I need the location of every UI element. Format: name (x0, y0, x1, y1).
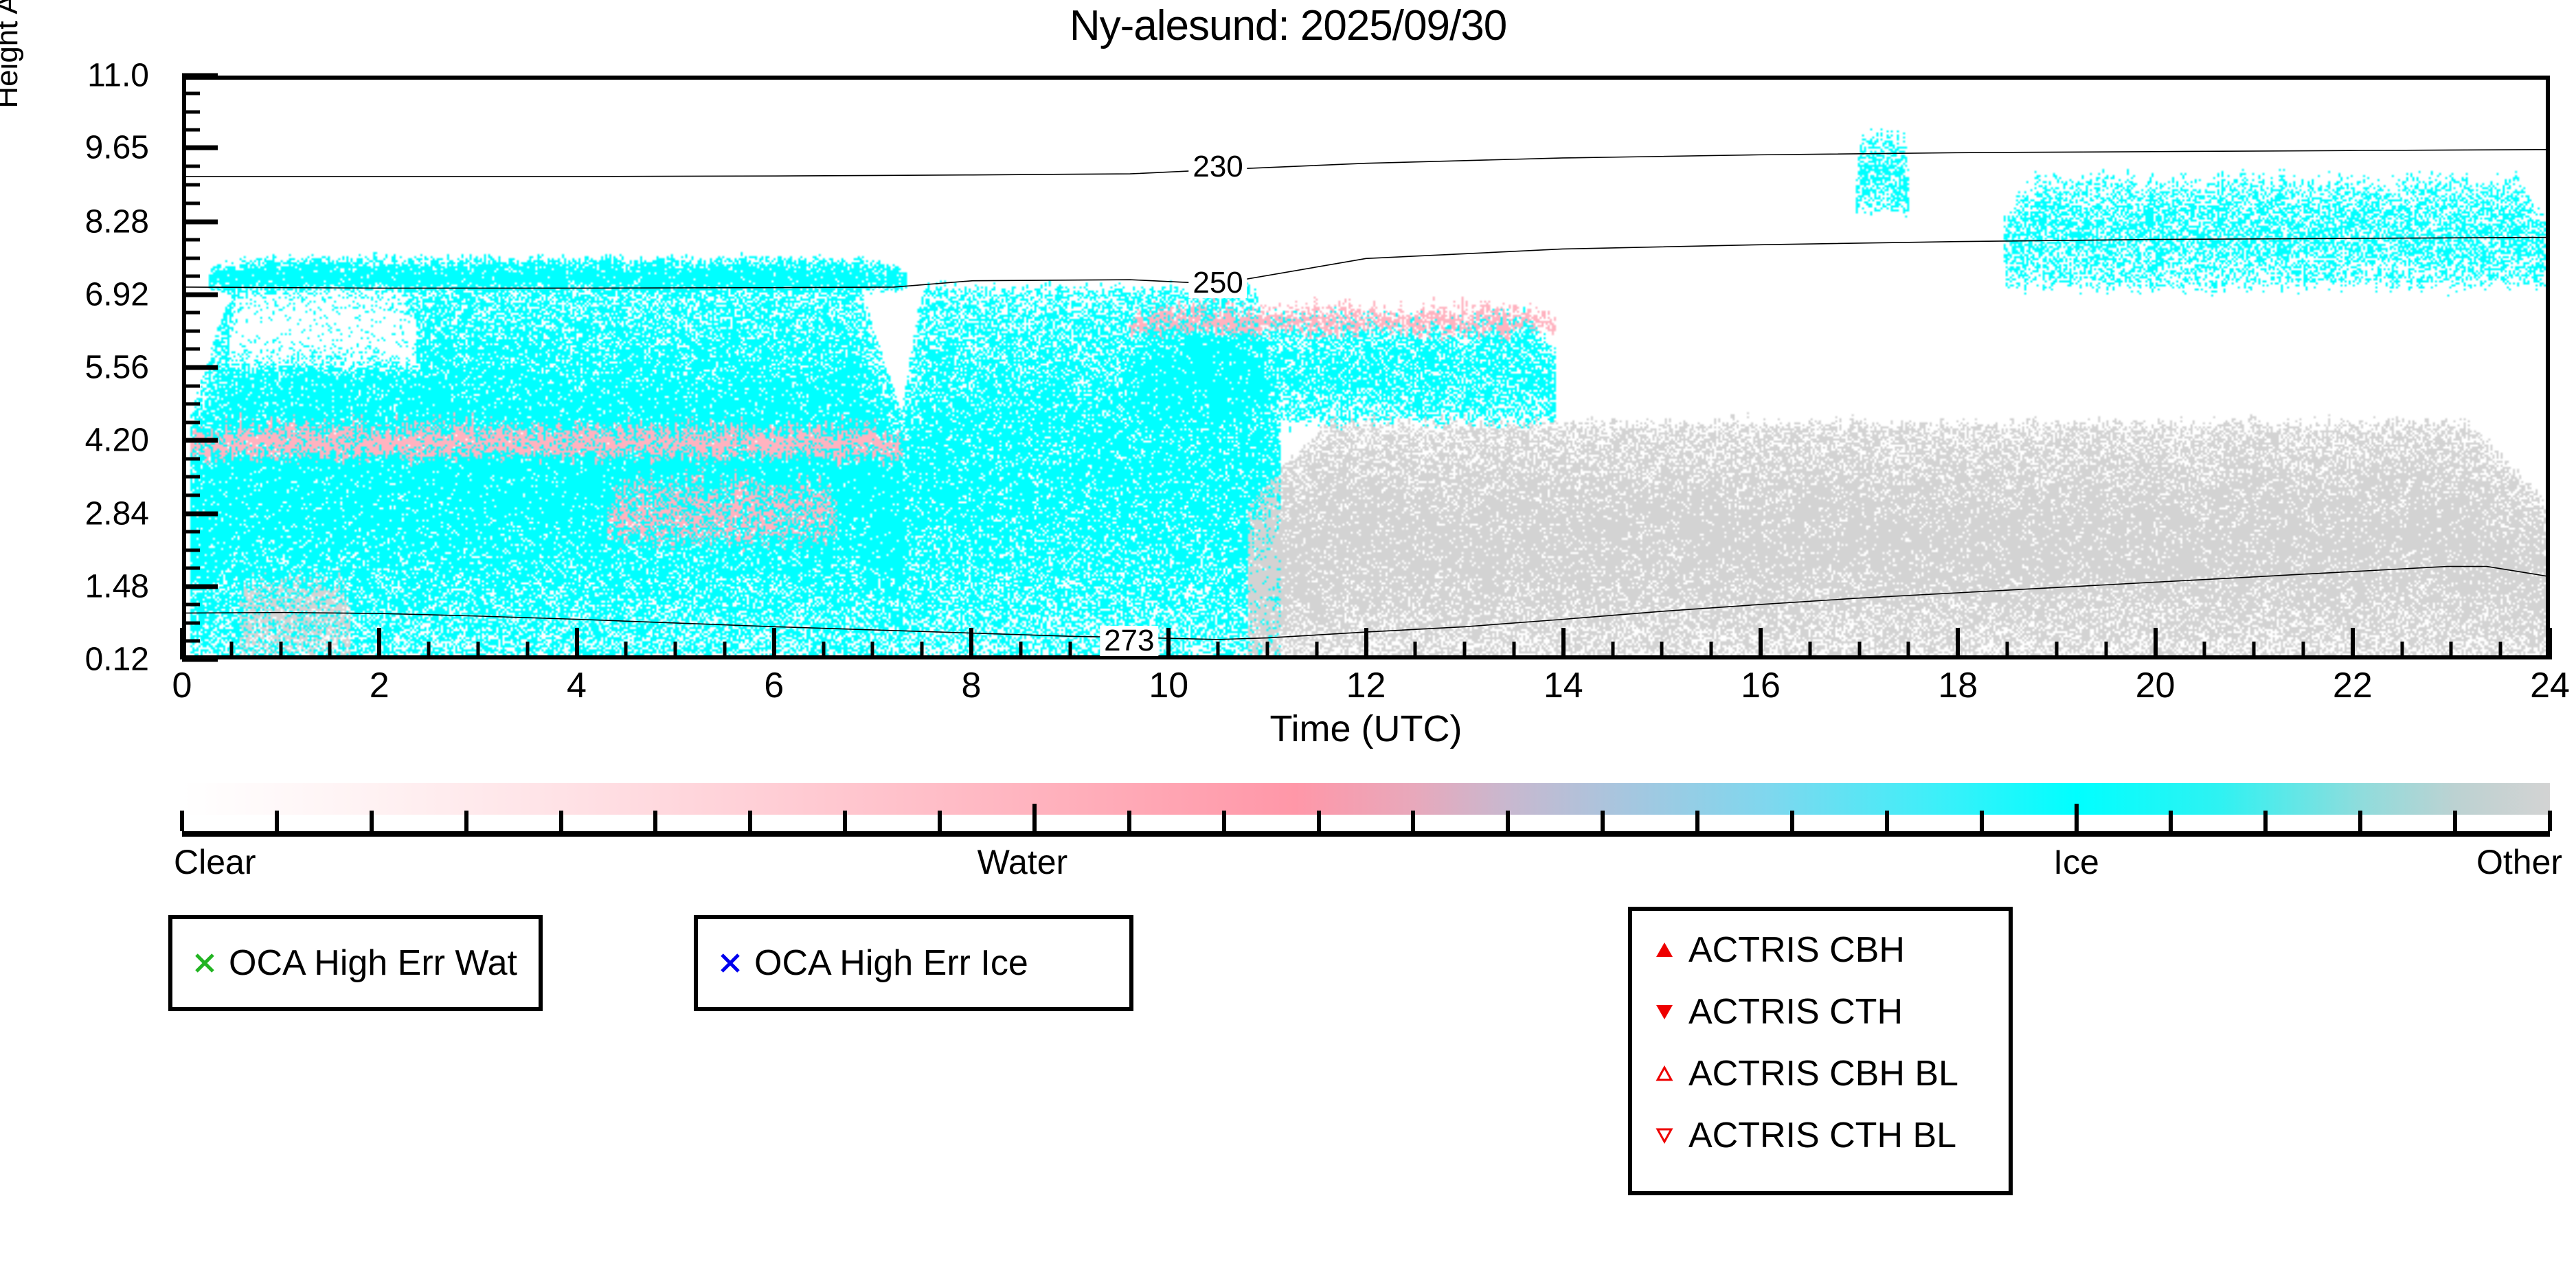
y-tick-minor (182, 311, 200, 315)
y-tick-minor (182, 640, 200, 643)
x-tick-label: 10 (1107, 665, 1230, 706)
x-tick-label: 18 (1896, 665, 2020, 706)
x-cross-icon (716, 949, 745, 977)
colorbar-tick (2263, 811, 2268, 831)
x-tick-major (1561, 628, 1566, 659)
x-tick-minor (1907, 642, 1910, 659)
x-tick-major (180, 628, 184, 659)
legend-oca-high-err-water[interactable]: OCA High Err Wat (168, 915, 543, 1011)
y-tick-major (182, 74, 218, 78)
colorbar-tick (748, 811, 752, 831)
y-tick-major (182, 438, 218, 443)
triangle-up-filled-icon (1650, 938, 1679, 962)
x-tick-label: 0 (120, 665, 244, 706)
x-tick-minor (2301, 642, 2305, 659)
x-tick-minor (1265, 642, 1269, 659)
y-tick-minor (182, 238, 200, 242)
y-tick-minor (182, 457, 200, 460)
y-tick-minor (182, 530, 200, 534)
y-tick-minor (182, 493, 200, 497)
colorbar-tick (2453, 811, 2457, 831)
y-tick-major (182, 146, 218, 150)
y-tick-minor (182, 348, 200, 351)
colorbar-tick (1506, 811, 1510, 831)
y-tick-label: 1.48 (0, 567, 149, 605)
legend-item[interactable]: OCA High Err Wat (172, 931, 539, 995)
triangle-up-open-icon (1650, 1061, 1679, 1086)
x-tick-label: 4 (515, 665, 639, 706)
colorbar-tick (1885, 811, 1889, 831)
x-tick-minor (871, 642, 874, 659)
x-tick-minor (674, 642, 677, 659)
y-tick-minor (182, 256, 200, 260)
x-tick-major (1956, 628, 1960, 659)
y-tick-minor (182, 475, 200, 479)
colorbar-tick (2548, 811, 2552, 831)
x-tick-minor (526, 642, 529, 659)
legend-item-label: OCA High Err Wat (229, 942, 517, 984)
x-tick-minor (1463, 642, 1467, 659)
x-tick-minor (2400, 642, 2404, 659)
x-tick-minor (2499, 642, 2502, 659)
colorbar-tick (938, 811, 942, 831)
y-tick-minor (182, 201, 200, 205)
x-tick-major (1364, 628, 1368, 659)
colorbar-tick (464, 811, 468, 831)
y-tick-minor (182, 548, 200, 552)
x-tick-minor (1611, 642, 1614, 659)
legend-item-actris-cbh-bl[interactable]: ACTRIS CBH BL (1632, 1043, 2009, 1105)
y-tick-minor (182, 403, 200, 406)
colorbar-tick (1790, 811, 1794, 831)
x-tick-minor (229, 642, 233, 659)
x-tick-minor (2055, 642, 2058, 659)
legend-item-actris-cth-bl[interactable]: ACTRIS CTH BL (1632, 1105, 2009, 1166)
x-tick-minor (2104, 642, 2108, 659)
legend-item[interactable]: OCA High Err Ice (698, 931, 1129, 995)
x-tick-label: 2 (317, 665, 441, 706)
x-tick-major (1759, 628, 1763, 659)
x-tick-label: 8 (909, 665, 1033, 706)
x-tick-major (377, 628, 381, 659)
x-tick-major (2548, 628, 2552, 659)
x-tick-minor (2006, 642, 2009, 659)
y-tick-major (182, 292, 218, 297)
x-tick-minor (1414, 642, 1417, 659)
y-tick-major (182, 511, 218, 516)
x-tick-label: 24 (2488, 665, 2576, 706)
contour-label: 250 (1188, 268, 1247, 298)
x-tick-minor (1512, 642, 1515, 659)
x-tick-label: 20 (2094, 665, 2217, 706)
colorbar-tick (559, 811, 563, 831)
legend-item-label: OCA High Err Ice (754, 942, 1028, 984)
x-tick-minor (624, 642, 628, 659)
legend-item-label: ACTRIS CTH (1688, 991, 1903, 1032)
colorbar-tick (1601, 811, 1605, 831)
x-tick-major (575, 628, 579, 659)
x-tick-minor (1217, 642, 1220, 659)
x-tick-minor (1019, 642, 1022, 659)
colorbar-tick (1032, 804, 1037, 831)
triangle-down-open-icon (1650, 1123, 1679, 1148)
y-tick-label: 2.84 (0, 495, 149, 532)
colorbar-tick (1695, 811, 1699, 831)
y-tick-minor (182, 603, 200, 607)
y-tick-major (182, 584, 218, 589)
x-tick-minor (279, 642, 282, 659)
x-tick-minor (1068, 642, 1072, 659)
legend-actris[interactable]: ACTRIS CBH ACTRIS CTH ACTRIS CBH BL ACTR… (1628, 907, 2013, 1195)
colorbar-label: Other (2476, 842, 2562, 882)
y-tick-minor (182, 275, 200, 278)
y-tick-minor (182, 621, 200, 624)
y-tick-major (182, 365, 218, 370)
x-tick-minor (822, 642, 825, 659)
plot-axes-frame (182, 76, 2550, 659)
x-tick-label: 12 (1304, 665, 1428, 706)
x-tick-label: 16 (1699, 665, 1822, 706)
y-tick-minor (182, 567, 200, 570)
x-tick-minor (1808, 642, 1811, 659)
x-tick-minor (1660, 642, 1664, 659)
x-cross-icon (190, 949, 219, 977)
colorbar-label: Ice (2053, 842, 2099, 882)
y-tick-major (182, 657, 218, 662)
colorbar-tick (1222, 811, 1226, 831)
colorbar-tick (1317, 811, 1321, 831)
colorbar-gradient (182, 783, 2550, 815)
x-tick-minor (920, 642, 924, 659)
x-tick-minor (1710, 642, 1713, 659)
x-tick-major (2154, 628, 2158, 659)
colorbar-tick (370, 811, 374, 831)
y-tick-minor (182, 128, 200, 132)
contour-line (186, 238, 2546, 289)
legend-item-actris-cth[interactable]: ACTRIS CTH (1632, 981, 2009, 1043)
x-tick-minor (1315, 642, 1318, 659)
contour-label: 230 (1188, 152, 1247, 182)
x-tick-minor (1857, 642, 1861, 659)
colorbar-label: Clear (174, 842, 256, 882)
y-tick-minor (182, 329, 200, 332)
x-tick-minor (2450, 642, 2453, 659)
x-tick-minor (2203, 642, 2206, 659)
y-tick-minor (182, 165, 200, 168)
colorbar-tick (2358, 811, 2362, 831)
y-tick-minor (182, 420, 200, 424)
y-tick-label: 8.28 (0, 203, 149, 240)
y-tick-minor (182, 92, 200, 95)
page-title: Ny-alesund: 2025/09/30 (0, 1, 2576, 50)
colorbar-axis-line (182, 831, 2550, 837)
x-tick-major (969, 628, 973, 659)
legend-item-label: ACTRIS CBH BL (1688, 1053, 1958, 1094)
y-tick-label: 4.20 (0, 422, 149, 460)
x-tick-minor (328, 642, 332, 659)
x-tick-minor (2252, 642, 2256, 659)
legend-item-actris-cbh[interactable]: ACTRIS CBH (1632, 919, 2009, 981)
x-tick-minor (723, 642, 726, 659)
x-tick-label: 6 (712, 665, 836, 706)
legend-item-label: ACTRIS CTH BL (1688, 1115, 1956, 1156)
x-tick-label: 14 (1502, 665, 1625, 706)
triangle-down-filled-icon (1650, 999, 1679, 1024)
y-tick-minor (182, 110, 200, 113)
colorbar-tick (1980, 811, 1984, 831)
y-tick-label: 5.56 (0, 349, 149, 387)
x-tick-major (772, 628, 776, 659)
colorbar-tick (1411, 811, 1415, 831)
colorbar-label: Water (978, 842, 1068, 882)
colorbar-tick (2075, 804, 2079, 831)
colorbar-tick (1127, 811, 1131, 831)
legend-item-label: ACTRIS CBH (1688, 929, 1905, 971)
y-tick-minor (182, 384, 200, 387)
x-axis-label: Time (UTC) (182, 708, 2550, 750)
contour-overlay (186, 80, 2546, 655)
colorbar-tick (653, 811, 657, 831)
x-tick-minor (476, 642, 479, 659)
x-tick-major (1166, 628, 1171, 659)
colorbar: ClearWaterIceOther (182, 783, 2550, 893)
colorbar-tick (843, 811, 847, 831)
y-tick-label: 6.92 (0, 275, 149, 313)
y-tick-major (182, 219, 218, 224)
legend-oca-high-err-ice[interactable]: OCA High Err Ice (694, 915, 1133, 1011)
contour-label: 273 (1100, 626, 1158, 656)
colorbar-tick (2169, 811, 2173, 831)
y-axis-label: Height AMSL (km) (0, 0, 25, 206)
contour-line (186, 150, 2546, 177)
colorbar-tick (275, 811, 279, 831)
y-tick-minor (182, 183, 200, 186)
x-tick-major (2351, 628, 2355, 659)
colorbar-tick (180, 811, 184, 831)
x-tick-label: 22 (2291, 665, 2415, 706)
x-tick-minor (427, 642, 431, 659)
